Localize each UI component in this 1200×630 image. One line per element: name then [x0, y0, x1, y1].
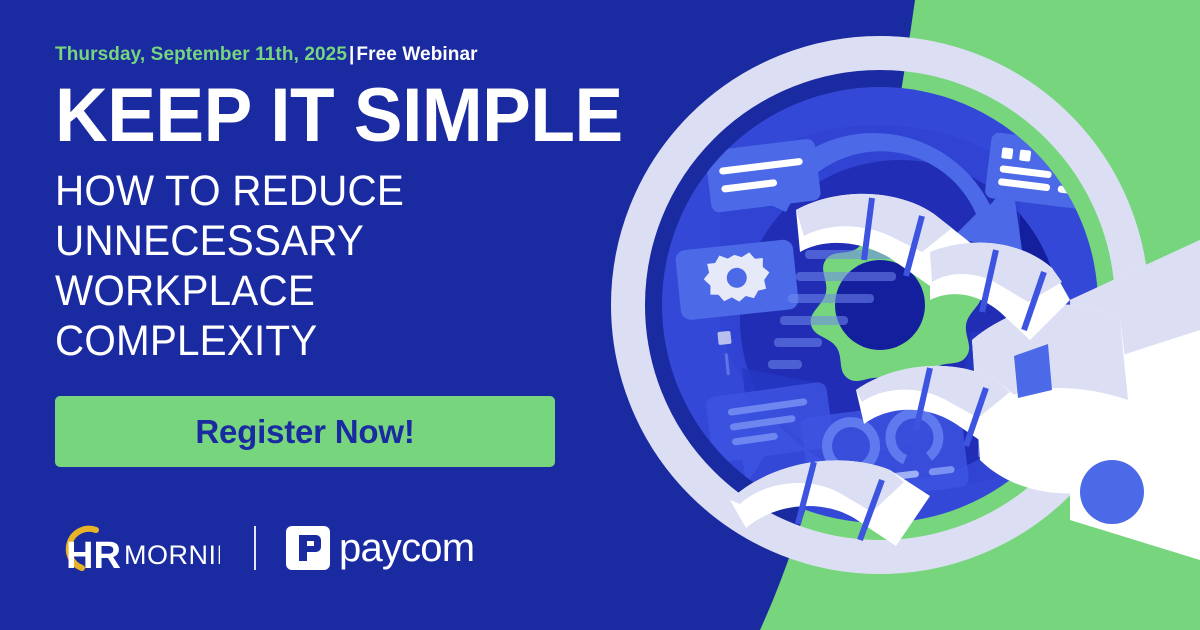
- hrmorning-logo-svg: HR MORNING: [52, 522, 220, 574]
- eyebrow-line: Thursday, September 11th, 2025|Free Webi…: [55, 44, 675, 66]
- webinar-date: Thursday, September 11th, 2025: [55, 44, 347, 65]
- hr-bold-text: HR: [66, 535, 121, 574]
- morning-light-text: MORNING: [124, 540, 220, 570]
- subtitle-line-2: UNNECESSARY: [55, 217, 638, 267]
- webinar-type: Free Webinar: [356, 44, 477, 65]
- subtitle-line-3: WORKPLACE: [55, 267, 638, 317]
- eyebrow-separator: |: [347, 44, 356, 65]
- subtitle-line-1: HOW TO REDUCE: [55, 167, 638, 217]
- paycom-wordmark: paycom: [339, 526, 474, 571]
- page-title: KEEP IT SIMPLE: [55, 80, 650, 153]
- banner-content: Thursday, September 11th, 2025|Free Webi…: [55, 44, 675, 467]
- logo-divider: [254, 526, 256, 570]
- logo-row: HR MORNING paycom: [52, 519, 474, 577]
- register-now-button[interactable]: Register Now!: [55, 396, 555, 467]
- wrist-blue-dot: [1080, 460, 1144, 524]
- paycom-logo[interactable]: paycom: [286, 526, 474, 571]
- subtitle: HOW TO REDUCE UNNECESSARY WORKPLACE COMP…: [55, 167, 638, 367]
- webinar-promo-banner: Thursday, September 11th, 2025|Free Webi…: [0, 0, 1200, 630]
- robot-hand-gear-illustration: [600, 0, 1200, 630]
- subtitle-line-4: COMPLEXITY: [55, 317, 638, 367]
- paycom-square-icon: [286, 526, 330, 570]
- hrmorning-logo[interactable]: HR MORNING: [52, 522, 220, 574]
